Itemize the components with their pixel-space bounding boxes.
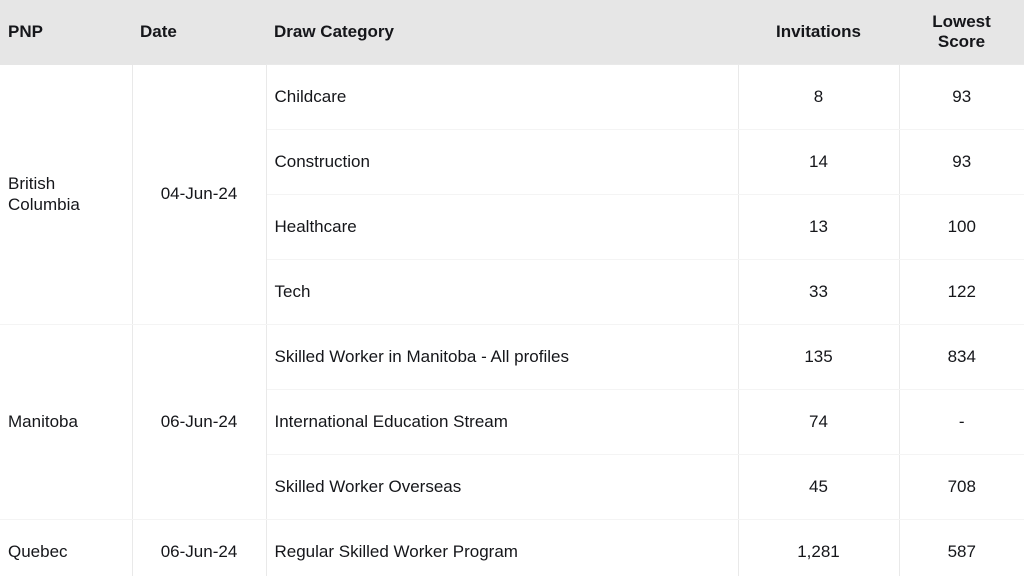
cell-invitations: 45 — [738, 455, 899, 520]
cell-date: 06-Jun-24 — [132, 325, 266, 520]
column-header-invitations[interactable]: Invitations — [738, 0, 899, 65]
cell-invitations: 14 — [738, 130, 899, 195]
cell-lowest-score: 587 — [899, 520, 1024, 576]
cell-pnp: Manitoba — [0, 325, 132, 520]
cell-invitations: 74 — [738, 390, 899, 455]
column-header-pnp[interactable]: PNP — [0, 0, 132, 65]
cell-pnp: Quebec — [0, 520, 132, 576]
draw-results-table-container: PNP Date Draw Category Invitations Lowes… — [0, 0, 1024, 576]
cell-draw-category: International Education Stream — [266, 390, 738, 455]
table-row: British Columbia04-Jun-24Childcare893 — [0, 65, 1024, 130]
cell-invitations: 1,281 — [738, 520, 899, 576]
cell-date: 04-Jun-24 — [132, 65, 266, 325]
table-header-row: PNP Date Draw Category Invitations Lowes… — [0, 0, 1024, 65]
cell-draw-category: Tech — [266, 260, 738, 325]
cell-lowest-score: 122 — [899, 260, 1024, 325]
cell-pnp: British Columbia — [0, 65, 132, 325]
cell-invitations: 8 — [738, 65, 899, 130]
column-header-draw-category[interactable]: Draw Category — [266, 0, 738, 65]
cell-lowest-score: 708 — [899, 455, 1024, 520]
draw-results-table: PNP Date Draw Category Invitations Lowes… — [0, 0, 1024, 576]
cell-draw-category: Childcare — [266, 65, 738, 130]
cell-lowest-score: - — [899, 390, 1024, 455]
cell-invitations: 135 — [738, 325, 899, 390]
cell-invitations: 33 — [738, 260, 899, 325]
cell-invitations: 13 — [738, 195, 899, 260]
cell-draw-category: Healthcare — [266, 195, 738, 260]
cell-lowest-score: 100 — [899, 195, 1024, 260]
column-header-lowest-score[interactable]: Lowest Score — [899, 0, 1024, 65]
table-body: British Columbia04-Jun-24Childcare893Con… — [0, 65, 1024, 576]
cell-draw-category: Regular Skilled Worker Program — [266, 520, 738, 576]
cell-lowest-score: 834 — [899, 325, 1024, 390]
cell-lowest-score: 93 — [899, 65, 1024, 130]
cell-draw-category: Skilled Worker Overseas — [266, 455, 738, 520]
cell-draw-category: Construction — [266, 130, 738, 195]
table-row: Quebec06-Jun-24Regular Skilled Worker Pr… — [0, 520, 1024, 576]
cell-lowest-score: 93 — [899, 130, 1024, 195]
cell-date: 06-Jun-24 — [132, 520, 266, 576]
cell-draw-category: Skilled Worker in Manitoba - All profile… — [266, 325, 738, 390]
column-header-date[interactable]: Date — [132, 0, 266, 65]
table-header: PNP Date Draw Category Invitations Lowes… — [0, 0, 1024, 65]
table-row: Manitoba06-Jun-24Skilled Worker in Manit… — [0, 325, 1024, 390]
